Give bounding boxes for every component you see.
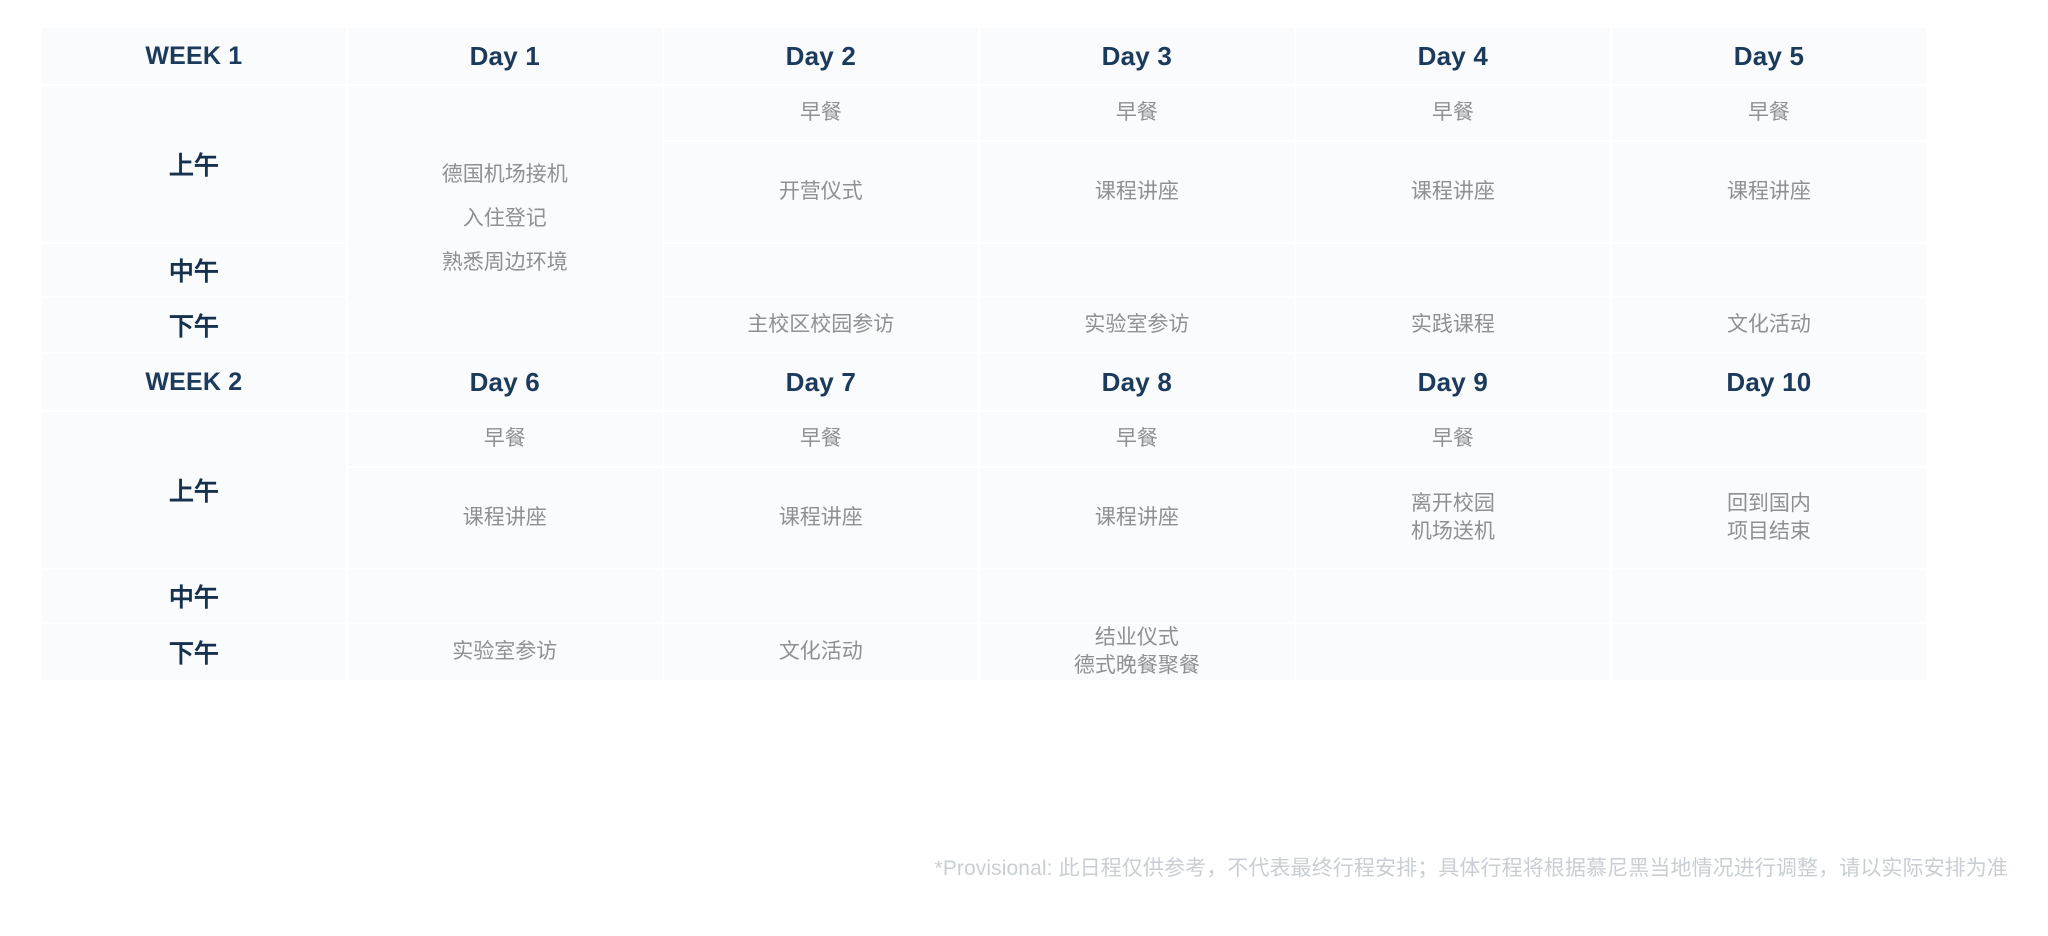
week1-day4-morning: 课程讲座 [1296, 142, 1610, 242]
week1-day4-breakfast: 早餐 [1296, 86, 1610, 140]
week2-day7-afternoon: 文化活动 [664, 624, 978, 680]
week1-day-4: Day 4 [1296, 28, 1610, 84]
week2-day6-morning-line1: 课程讲座 [348, 503, 662, 533]
week1-day1-activity-1: 德国机场接机 [348, 160, 662, 190]
week1-day1-activity-2: 入住登记 [348, 204, 662, 234]
week1-time-noon: 中午 [42, 244, 346, 296]
week2-day6-afternoon-line1: 实验室参访 [348, 637, 662, 667]
week1-header-row: WEEK 1 Day 1 Day 2 Day 3 Day 4 Day 5 [42, 28, 1926, 84]
week1-time-afternoon: 下午 [42, 298, 346, 352]
week1-day5-breakfast: 早餐 [1612, 86, 1926, 140]
week2-day7-breakfast: 早餐 [664, 412, 978, 466]
week1-day1-merged-cell: 德国机场接机 入住登记 熟悉周边环境 [348, 86, 662, 352]
week2-day9-afternoon [1296, 624, 1610, 680]
week1-day3-afternoon: 实验室参访 [980, 298, 1294, 352]
week2-day10-breakfast [1612, 412, 1926, 466]
week2-day8-morning: 课程讲座 [980, 468, 1294, 568]
week2-day10-morning: 回到国内 项目结束 [1612, 468, 1926, 568]
schedule-table-container: WEEK 1 Day 1 Day 2 Day 3 Day 4 Day 5 上午 … [40, 26, 1928, 682]
week2-time-afternoon: 下午 [42, 624, 346, 680]
week2-day-9: Day 9 [1296, 354, 1610, 410]
week2-header-row: WEEK 2 Day 6 Day 7 Day 8 Day 9 Day 10 [42, 354, 1926, 410]
week2-day10-afternoon [1612, 624, 1926, 680]
week1-day4-afternoon: 实践课程 [1296, 298, 1610, 352]
week1-day-5: Day 5 [1612, 28, 1926, 84]
week1-time-morning: 上午 [42, 86, 346, 242]
week1-day2-afternoon: 主校区校园参访 [664, 298, 978, 352]
week2-day7-afternoon-line1: 文化活动 [664, 637, 978, 667]
week2-day8-morning-line1: 课程讲座 [980, 503, 1294, 533]
week2-day-7: Day 7 [664, 354, 978, 410]
week2-time-noon: 中午 [42, 570, 346, 622]
week2-day-8: Day 8 [980, 354, 1294, 410]
week2-day8-afternoon-line1: 结业仪式 [980, 624, 1294, 652]
week1-day-1: Day 1 [348, 28, 662, 84]
week1-day5-afternoon: 文化活动 [1612, 298, 1926, 352]
week1-day1-activity-3: 熟悉周边环境 [348, 248, 662, 278]
week2-day7-morning-line1: 课程讲座 [664, 503, 978, 533]
week2-day6-noon [348, 570, 662, 622]
week2-day9-morning-line2: 机场送机 [1296, 518, 1610, 546]
week1-label: WEEK 1 [42, 28, 346, 84]
week1-day2-breakfast: 早餐 [664, 86, 978, 140]
week2-afternoon-row: 下午 实验室参访 文化活动 结业仪式 德式晚餐聚餐 [42, 624, 1926, 680]
week1-day-2: Day 2 [664, 28, 978, 84]
week2-day-6: Day 6 [348, 354, 662, 410]
week2-day6-morning: 课程讲座 [348, 468, 662, 568]
week2-breakfast-row: 上午 早餐 早餐 早餐 早餐 [42, 412, 1926, 466]
week2-day8-afternoon: 结业仪式 德式晚餐聚餐 [980, 624, 1294, 680]
schedule-page: WEEK 1 Day 1 Day 2 Day 3 Day 4 Day 5 上午 … [0, 0, 2048, 936]
week1-breakfast-row: 上午 德国机场接机 入住登记 熟悉周边环境 早餐 早餐 早餐 早餐 [42, 86, 1926, 140]
itinerary-table: WEEK 1 Day 1 Day 2 Day 3 Day 4 Day 5 上午 … [40, 26, 1928, 682]
week1-day2-noon [664, 244, 978, 296]
week2-noon-row: 中午 [42, 570, 1926, 622]
week1-day3-breakfast: 早餐 [980, 86, 1294, 140]
week2-day7-morning: 课程讲座 [664, 468, 978, 568]
week2-day9-morning-line1: 离开校园 [1296, 490, 1610, 518]
week1-day5-noon [1612, 244, 1926, 296]
week1-day3-noon [980, 244, 1294, 296]
week1-day4-noon [1296, 244, 1610, 296]
week2-day9-morning: 离开校园 机场送机 [1296, 468, 1610, 568]
week2-day-10: Day 10 [1612, 354, 1926, 410]
week2-day9-noon [1296, 570, 1610, 622]
week1-day-3: Day 3 [980, 28, 1294, 84]
week2-day8-breakfast: 早餐 [980, 412, 1294, 466]
week2-day8-noon [980, 570, 1294, 622]
week2-time-morning: 上午 [42, 412, 346, 568]
week2-day10-morning-line1: 回到国内 [1612, 490, 1926, 518]
week1-day3-morning: 课程讲座 [980, 142, 1294, 242]
week2-day6-breakfast: 早餐 [348, 412, 662, 466]
week2-day8-afternoon-line2: 德式晚餐聚餐 [980, 652, 1294, 680]
week2-day10-morning-line2: 项目结束 [1612, 518, 1926, 546]
week2-day7-noon [664, 570, 978, 622]
week1-afternoon-row: 下午 主校区校园参访 实验室参访 实践课程 文化活动 [42, 298, 1926, 352]
week1-day5-morning: 课程讲座 [1612, 142, 1926, 242]
week2-day9-breakfast: 早餐 [1296, 412, 1610, 466]
week2-label: WEEK 2 [42, 354, 346, 410]
provisional-footnote: *Provisional: 此日程仅供参考，不代表最终行程安排；具体行程将根据慕… [0, 852, 2008, 882]
week2-day6-afternoon: 实验室参访 [348, 624, 662, 680]
week2-day10-noon [1612, 570, 1926, 622]
week1-noon-row: 中午 [42, 244, 1926, 296]
week1-day2-morning: 开营仪式 [664, 142, 978, 242]
